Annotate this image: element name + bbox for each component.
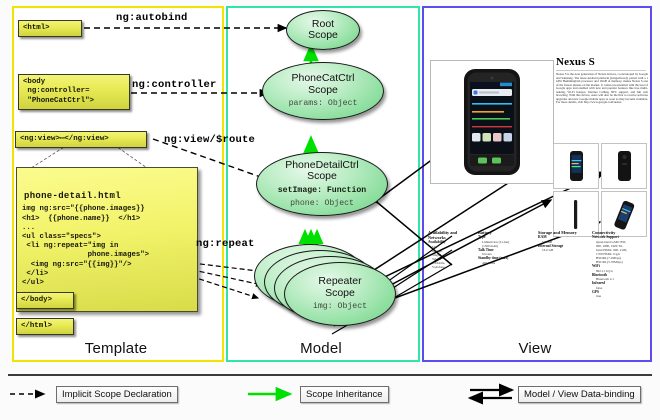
label-ng-autobind: ng:autobind (116, 12, 188, 24)
view-thumbnail-1[interactable] (553, 143, 599, 189)
scope-phonedetailctrl-name: PhoneDetailCtrl Scope (285, 160, 359, 183)
spec-column-0: Availability and Networks Availability M… (428, 230, 472, 269)
panel-label-view: View (422, 340, 648, 357)
legend-divider (8, 374, 652, 376)
panel-label-model: Model (226, 340, 416, 357)
code-body-close: </body> (16, 292, 74, 309)
view-title-rule (556, 70, 646, 71)
phone-front-image (431, 61, 553, 183)
code-ngview-tag: <ng:view>▭</ng:view> (15, 131, 147, 148)
spec-column-2: Storage and Memory RAM 512MB Internal St… (538, 230, 586, 252)
scope-phonecatctrl-name: PhoneCatCtrl Scope (291, 73, 354, 96)
label-ng-view-route: ng:view/$route (164, 134, 255, 146)
legend-model-view-data-binding: Model / View Data-binding (518, 386, 641, 403)
scope-phonedetailctrl-prop-setimage: setImage: Function (278, 186, 366, 196)
note-phone-detail-html: phone-detail.htmlimg ng:src="{{phone.ima… (16, 167, 198, 312)
view-phone-description: Nexus S is the next generation of Nexus … (556, 73, 648, 105)
note-code: img ng:src="{{phone.images}} <h1> {{phon… (22, 205, 149, 296)
scope-repeater-prop-img: img: Object (313, 302, 367, 312)
scope-root: Root Scope (286, 10, 360, 50)
note-title: phone-detail.html (24, 190, 192, 203)
spec-value-3-4-0: true (592, 294, 648, 298)
scope-phonedetailctrl-prop-phone: phone: Object (290, 199, 354, 209)
scope-phonecatctrl: PhoneCatCtrl Scope params: Object (262, 62, 384, 120)
spec-heading-0: Availability and Networks (428, 230, 472, 240)
view-thumbnail-2[interactable] (601, 143, 647, 189)
legend-scope-inheritance: Scope Inheritance (300, 386, 389, 403)
code-html-close: </html> (16, 318, 74, 335)
spec-column-1: Battery Type Lithium Ion (Li-Ion) (1500 … (478, 230, 530, 265)
label-ng-controller: ng:controller (132, 79, 217, 91)
legend-implicit-scope-declaration: Implicit Scope Declaration (56, 386, 178, 403)
diagram-canvas: <html> <body ng:controller= "PhoneCatCtr… (0, 0, 660, 420)
scope-repeater: Repeater Scope img: Object (284, 262, 396, 326)
code-html-tag: <html> (18, 20, 82, 37)
scope-repeater-name: Repeater Scope (318, 276, 361, 299)
scope-phonecatctrl-prop-params: params: Object (289, 99, 358, 109)
spec-column-3: Connectivity Network Support Quad-band G… (592, 230, 648, 298)
view-phone-title: Nexus S (556, 56, 595, 68)
spec-value-2-1-0: 16.0 GB (538, 248, 586, 252)
label-ng-repeat: ng:repeat (196, 238, 255, 250)
code-body-tag: <body ng:controller= "PhoneCatCtrl"> (18, 74, 130, 110)
scope-phonedetailctrl: PhoneDetailCtrl Scope setImage: Function… (256, 152, 388, 216)
scope-root-name: Root Scope (308, 19, 338, 42)
phone-image-frame (430, 60, 554, 184)
spec-value-1-2-0: 428 hours (478, 261, 530, 265)
spec-value-0-0-6: Vodafone (428, 265, 472, 269)
panel-label-template: Template (12, 340, 220, 357)
